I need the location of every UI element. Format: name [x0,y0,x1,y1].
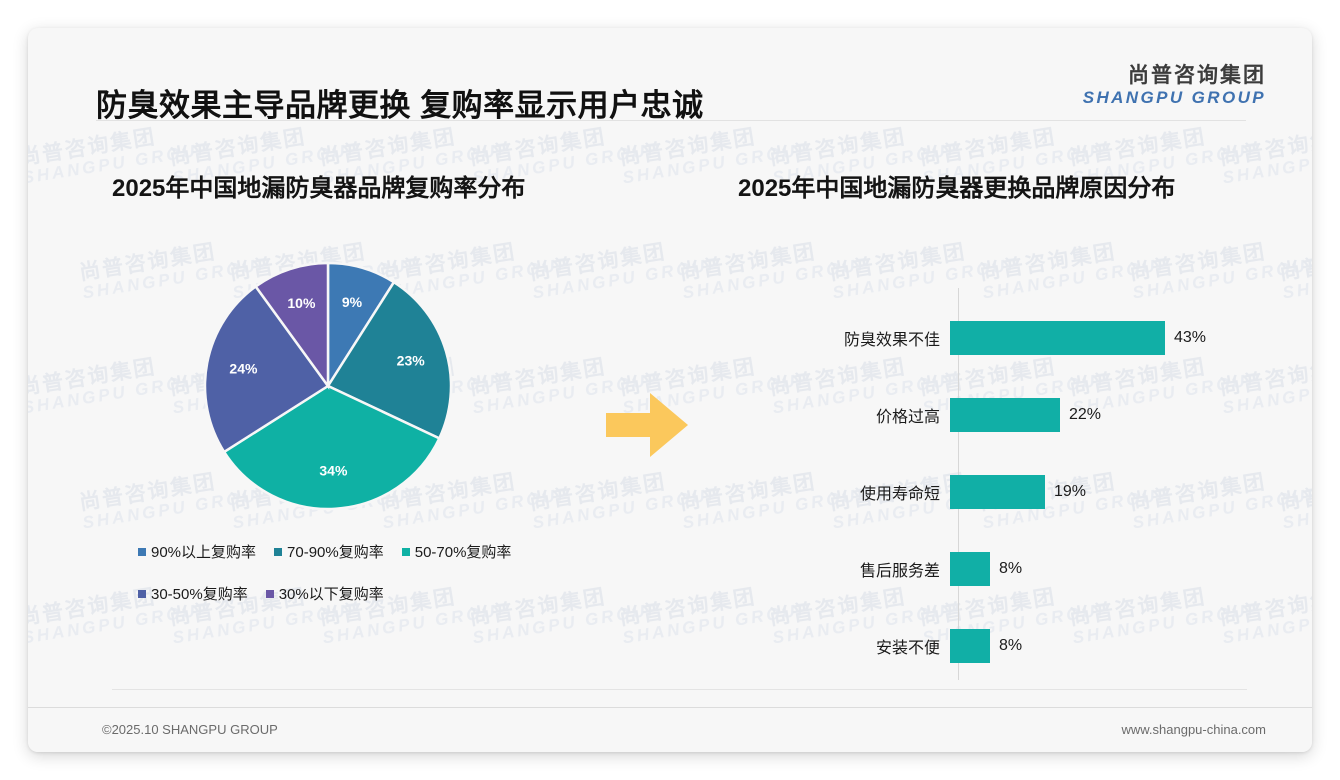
logo-text-cn: 尚普咨询集团 [1083,64,1266,88]
legend-label: 50-70%复购率 [415,541,512,562]
logo-text-en: SHANGPU GROUP [1083,88,1266,108]
legend-row: 90%以上复购率70-90%复购率50-70%复购率 [138,541,578,562]
title-divider [96,120,1246,121]
slide-footer: ©2025.10 SHANGPU GROUP www.shangpu-china… [28,707,1312,752]
copyright-text: ©2025.10 SHANGPU GROUP [102,722,278,737]
legend-swatch-icon [402,548,410,556]
legend-label: 30-50%复购率 [151,583,248,604]
bar-fill [950,552,990,586]
bar-chart-row: 售后服务差8% [728,549,1268,589]
legend-swatch-icon [266,590,274,598]
bar-fill [950,475,1045,509]
bar-value-label: 8% [990,637,1022,655]
bar-category-label: 防臭效果不佳 [728,326,950,350]
bar-category-label: 价格过高 [728,403,950,427]
company-logo: 尚普咨询集团 SHANGPU GROUP [1083,64,1266,108]
watermark-text: 尚普咨询集团SHANGPU GROUP [28,348,213,417]
legend-item[interactable]: 50-70%复购率 [402,541,512,562]
legend-swatch-icon [274,548,282,556]
pie-slice-label: 23% [397,353,426,369]
bar-chart-row: 使用寿命短19% [728,472,1268,512]
bar-value-label: 43% [1165,329,1206,347]
slide-card: 尚普咨询集团SHANGPU GROUP尚普咨询集团SHANGPU GROUP尚普… [28,28,1312,752]
watermark-text: 尚普咨询集团SHANGPU GROUP [528,233,723,302]
slide-header: 防臭效果主导品牌更换 复购率显示用户忠诚 尚普咨询集团 SHANGPU GROU… [28,28,1312,114]
pie-slice-label: 24% [229,361,258,377]
bar-chart-row: 价格过高22% [728,395,1268,435]
bar-fill [950,398,1060,432]
legend-label: 70-90%复购率 [287,541,384,562]
watermark-text: 尚普咨询集团SHANGPU GROUP [1278,463,1312,532]
bar-category-label: 使用寿命短 [728,480,950,504]
pie-chart: 9%23%34%24%10% [203,261,453,511]
legend-swatch-icon [138,590,146,598]
right-chart-title: 2025年中国地漏防臭器更换品牌原因分布 [738,168,1175,203]
legend-label: 30%以下复购率 [279,583,384,604]
bar-chart: 防臭效果不佳43%价格过高22%使用寿命短19%售后服务差8%安装不便8% [728,278,1268,688]
legend-item[interactable]: 30%以下复购率 [266,583,384,604]
page-title: 防臭效果主导品牌更换 复购率显示用户忠诚 [96,80,704,125]
left-chart-title: 2025年中国地漏防臭器品牌复购率分布 [112,168,525,203]
pie-chart-svg: 9%23%34%24%10% [203,261,453,511]
bar-fill [950,321,1165,355]
arrow-right-icon [606,391,688,459]
bar-chart-row: 安装不便8% [728,626,1268,666]
legend-item[interactable]: 70-90%复购率 [274,541,384,562]
legend-item[interactable]: 30-50%复购率 [138,583,248,604]
bar-value-label: 22% [1060,406,1101,424]
pie-slice-label: 34% [319,463,348,479]
pie-slice-label: 10% [287,295,316,311]
website-link[interactable]: www.shangpu-china.com [1121,722,1266,737]
bar-category-label: 安装不便 [728,634,950,658]
footnote-divider [112,689,1247,690]
legend-label: 90%以上复购率 [151,541,256,562]
arrow-right-icon-svg [606,391,688,459]
legend-swatch-icon [138,548,146,556]
legend-item[interactable]: 90%以上复购率 [138,541,256,562]
bar-chart-row: 防臭效果不佳43% [728,318,1268,358]
bar-fill [950,629,990,663]
legend-row: 30-50%复购率30%以下复购率 [138,583,578,604]
watermark-text: 尚普咨询集团SHANGPU GROUP [1218,118,1312,187]
bar-value-label: 19% [1045,483,1086,501]
pie-slice-label: 9% [342,294,363,310]
watermark-text: 尚普咨询集团SHANGPU GROUP [1278,233,1312,302]
watermark-text: 尚普咨询集团SHANGPU GROUP [528,463,723,532]
pie-legend: 90%以上复购率70-90%复购率50-70%复购率30-50%复购率30%以下… [138,541,578,625]
bar-value-label: 8% [990,560,1022,578]
bar-category-label: 售后服务差 [728,557,950,581]
